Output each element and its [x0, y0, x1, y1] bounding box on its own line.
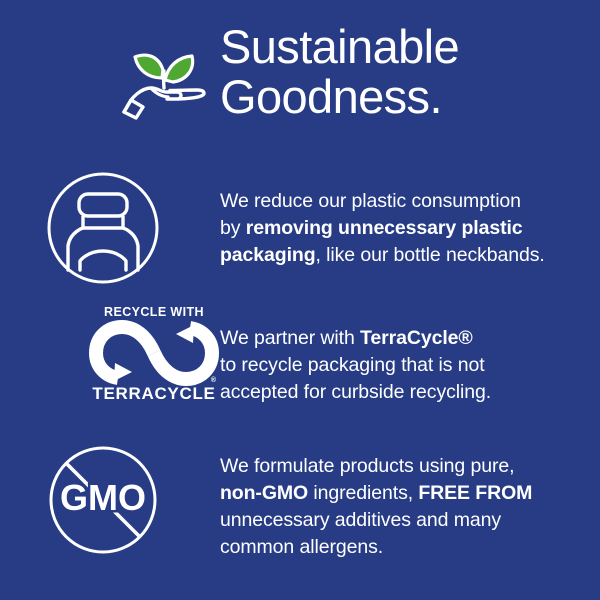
- registered-trademark-mark: ®: [211, 377, 216, 384]
- infographic-panel: Sustainable Goodness. We reduce our plas…: [0, 0, 600, 600]
- feature-text-terracycle: We partner with TerraCycle®to recycle pa…: [220, 325, 590, 406]
- text-line: to recycle packaging that is not: [220, 352, 590, 379]
- text-line: packaging, like our bottle neckbands.: [220, 242, 590, 269]
- page-title-line-2: Goodness.: [220, 72, 550, 122]
- text-line: We formulate products using pure,: [220, 453, 590, 480]
- feature-text-non-gmo: We formulate products using pure,non-GMO…: [220, 453, 590, 561]
- text-line: by removing unnecessary plastic: [220, 215, 590, 242]
- terracycle-bottom-label: TERRACYCLE: [90, 384, 218, 403]
- text-line: accepted for curbside recycling.: [220, 379, 590, 406]
- page-title: Sustainable Goodness.: [220, 22, 550, 122]
- feature-text-plastic-reduction: We reduce our plastic consumptionby remo…: [220, 188, 590, 269]
- text-line: unnecessary additives and many: [220, 507, 590, 534]
- bottle-neckband-circle-icon: [40, 170, 188, 296]
- text-line: common allergens.: [220, 534, 590, 561]
- page-title-line-1: Sustainable: [220, 22, 550, 72]
- terracycle-top-label: RECYCLE WITH: [90, 305, 218, 319]
- no-gmo-circle-icon: GMO: [40, 440, 188, 566]
- text-line: We reduce our plastic consumption: [220, 188, 590, 215]
- infinity-arrows-recycle-icon: ®: [90, 323, 218, 383]
- text-line: non-GMO ingredients, FREE FROM: [220, 480, 590, 507]
- text-line: We partner with TerraCycle®: [220, 325, 590, 352]
- gmo-label: GMO: [60, 477, 146, 518]
- hand-holding-sprout-icon: [118, 30, 210, 122]
- header: Sustainable Goodness.: [0, 22, 600, 142]
